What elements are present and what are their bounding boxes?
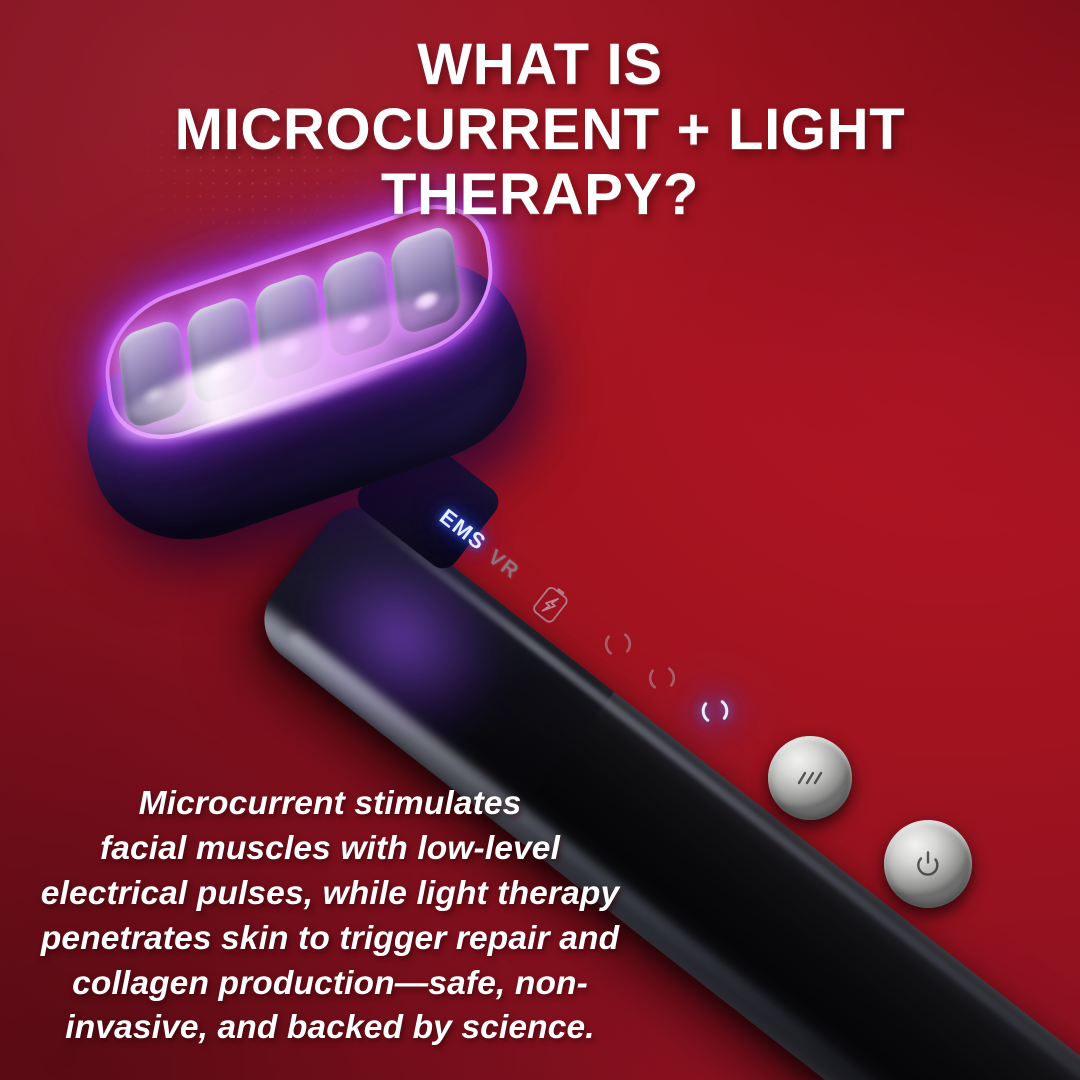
- intensity-ring-level-2[interactable]: [641, 657, 683, 699]
- body-paragraph: Microcurrent stimulates facial muscles w…: [26, 782, 634, 1051]
- headline-line-1: WHAT IS: [40, 36, 1040, 94]
- battery-charging-icon: [528, 580, 573, 627]
- page-title: WHAT IS MICROCURRENT + LIGHT THERAPY?: [0, 36, 1080, 224]
- intensity-ring-level-3[interactable]: [694, 690, 736, 732]
- headline-line-2: MICROCURRENT + LIGHT: [40, 101, 1040, 159]
- led-treatment-head: [72, 246, 552, 546]
- power-button[interactable]: [884, 820, 972, 908]
- poster-canvas: WHAT IS MICROCURRENT + LIGHT THERAPY?: [0, 0, 1080, 1080]
- intensity-ring-level-1[interactable]: [597, 623, 639, 665]
- body-line-2: facial muscles with low-level: [26, 827, 634, 872]
- body-line-3: electrical pulses, while light therapy: [26, 872, 634, 917]
- mode-button[interactable]: [768, 736, 852, 820]
- headline-line-3: THERAPY?: [40, 166, 1040, 224]
- body-line-1: Microcurrent stimulates: [26, 782, 634, 827]
- body-line-5: collagen production—safe, non-: [26, 962, 634, 1007]
- body-line-6: invasive, and backed by science.: [26, 1006, 634, 1051]
- body-line-4: penetrates skin to trigger repair and: [26, 917, 634, 962]
